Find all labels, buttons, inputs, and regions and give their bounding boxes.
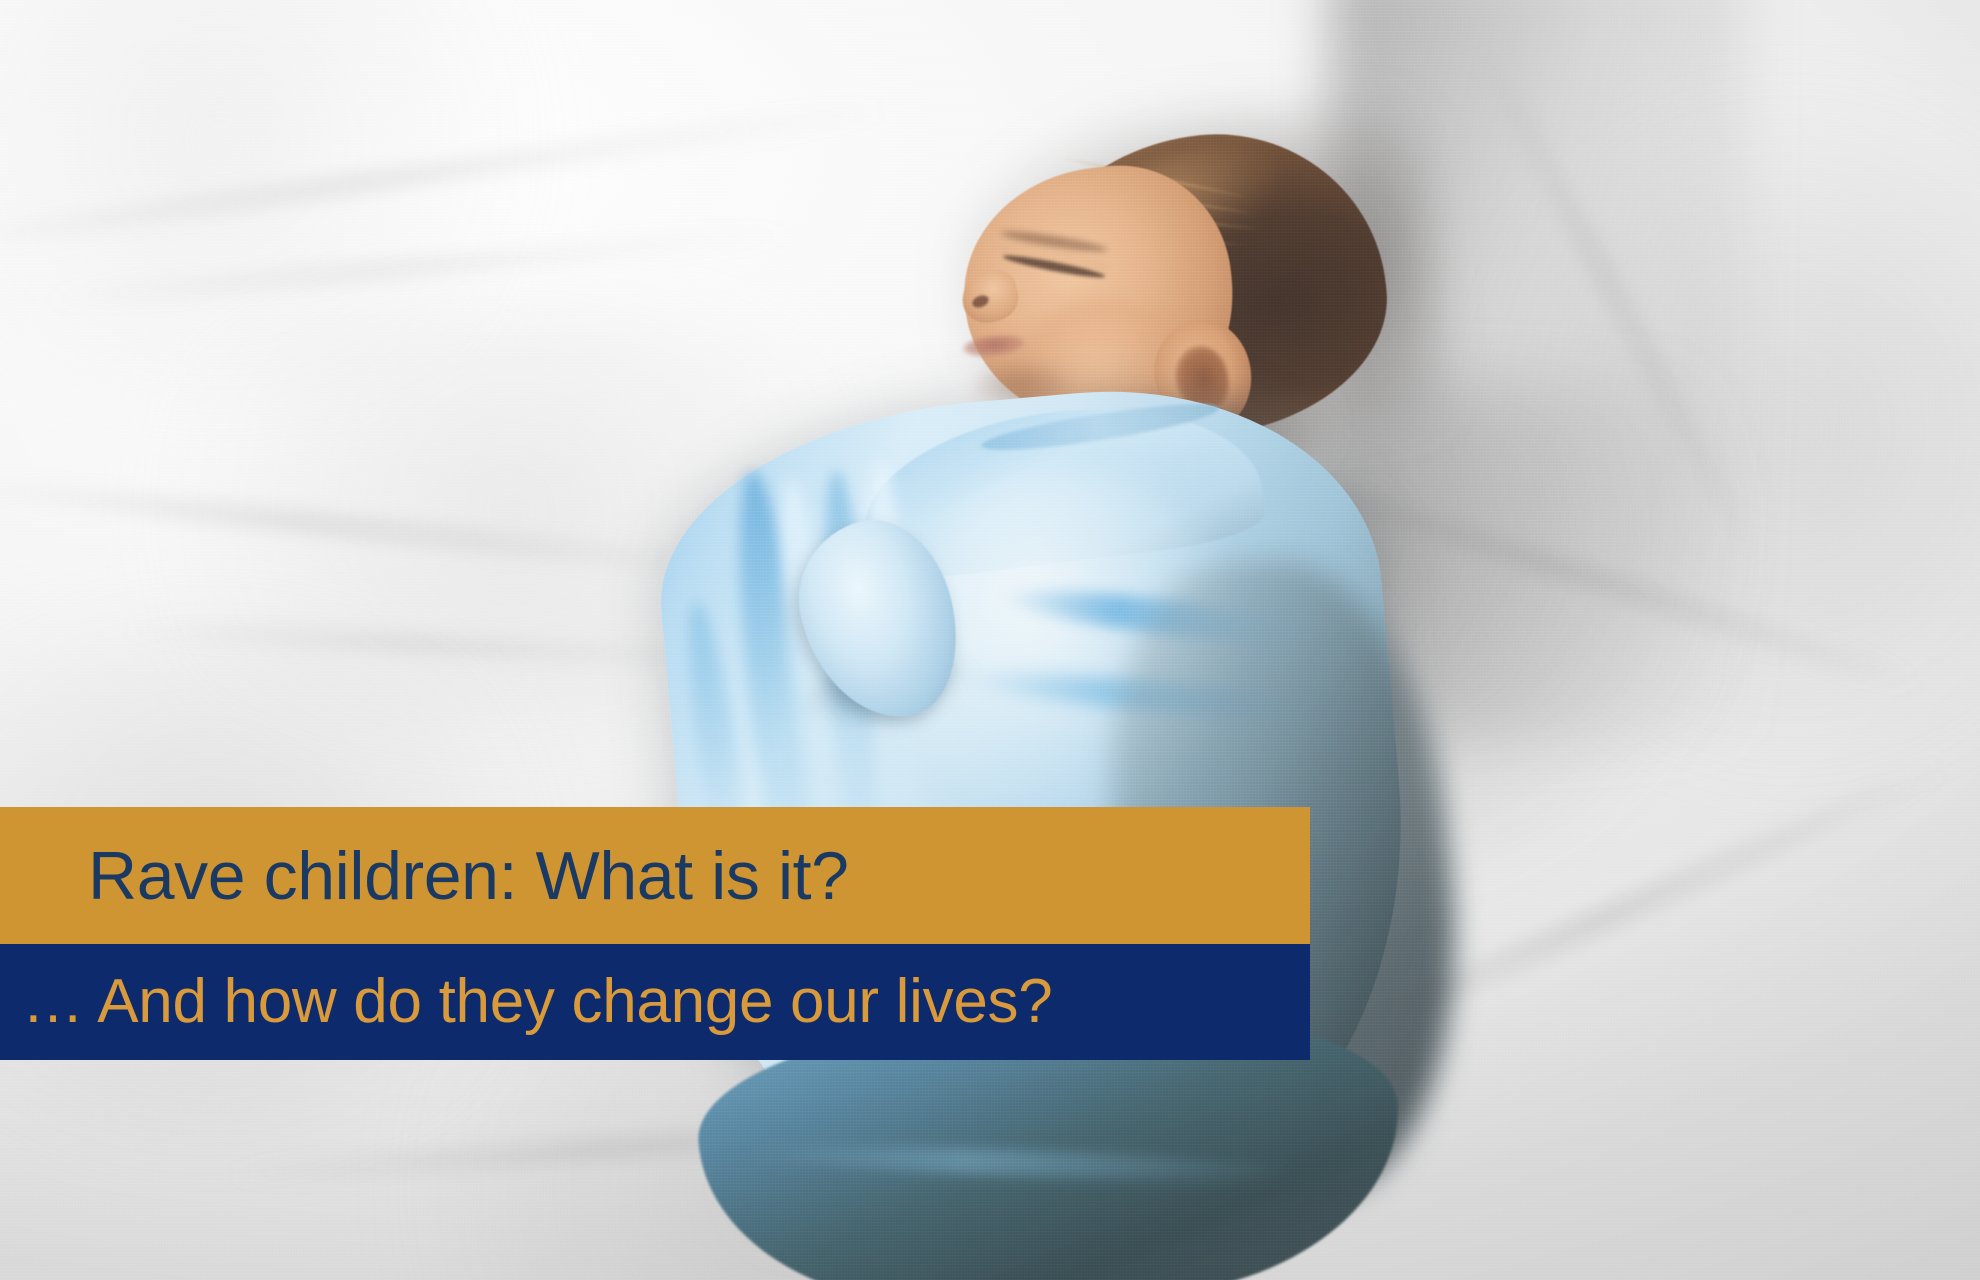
secondary-title-banner: … And how do they change our lives? <box>0 944 1310 1060</box>
baby-photograph <box>0 0 1980 1280</box>
hero-banner-image: Rave children: What is it? … And how do … <box>0 0 1980 1280</box>
primary-title-text: Rave children: What is it? <box>88 842 849 910</box>
primary-title-banner: Rave children: What is it? <box>0 807 1310 944</box>
secondary-title-text: … And how do they change our lives? <box>22 971 1052 1033</box>
